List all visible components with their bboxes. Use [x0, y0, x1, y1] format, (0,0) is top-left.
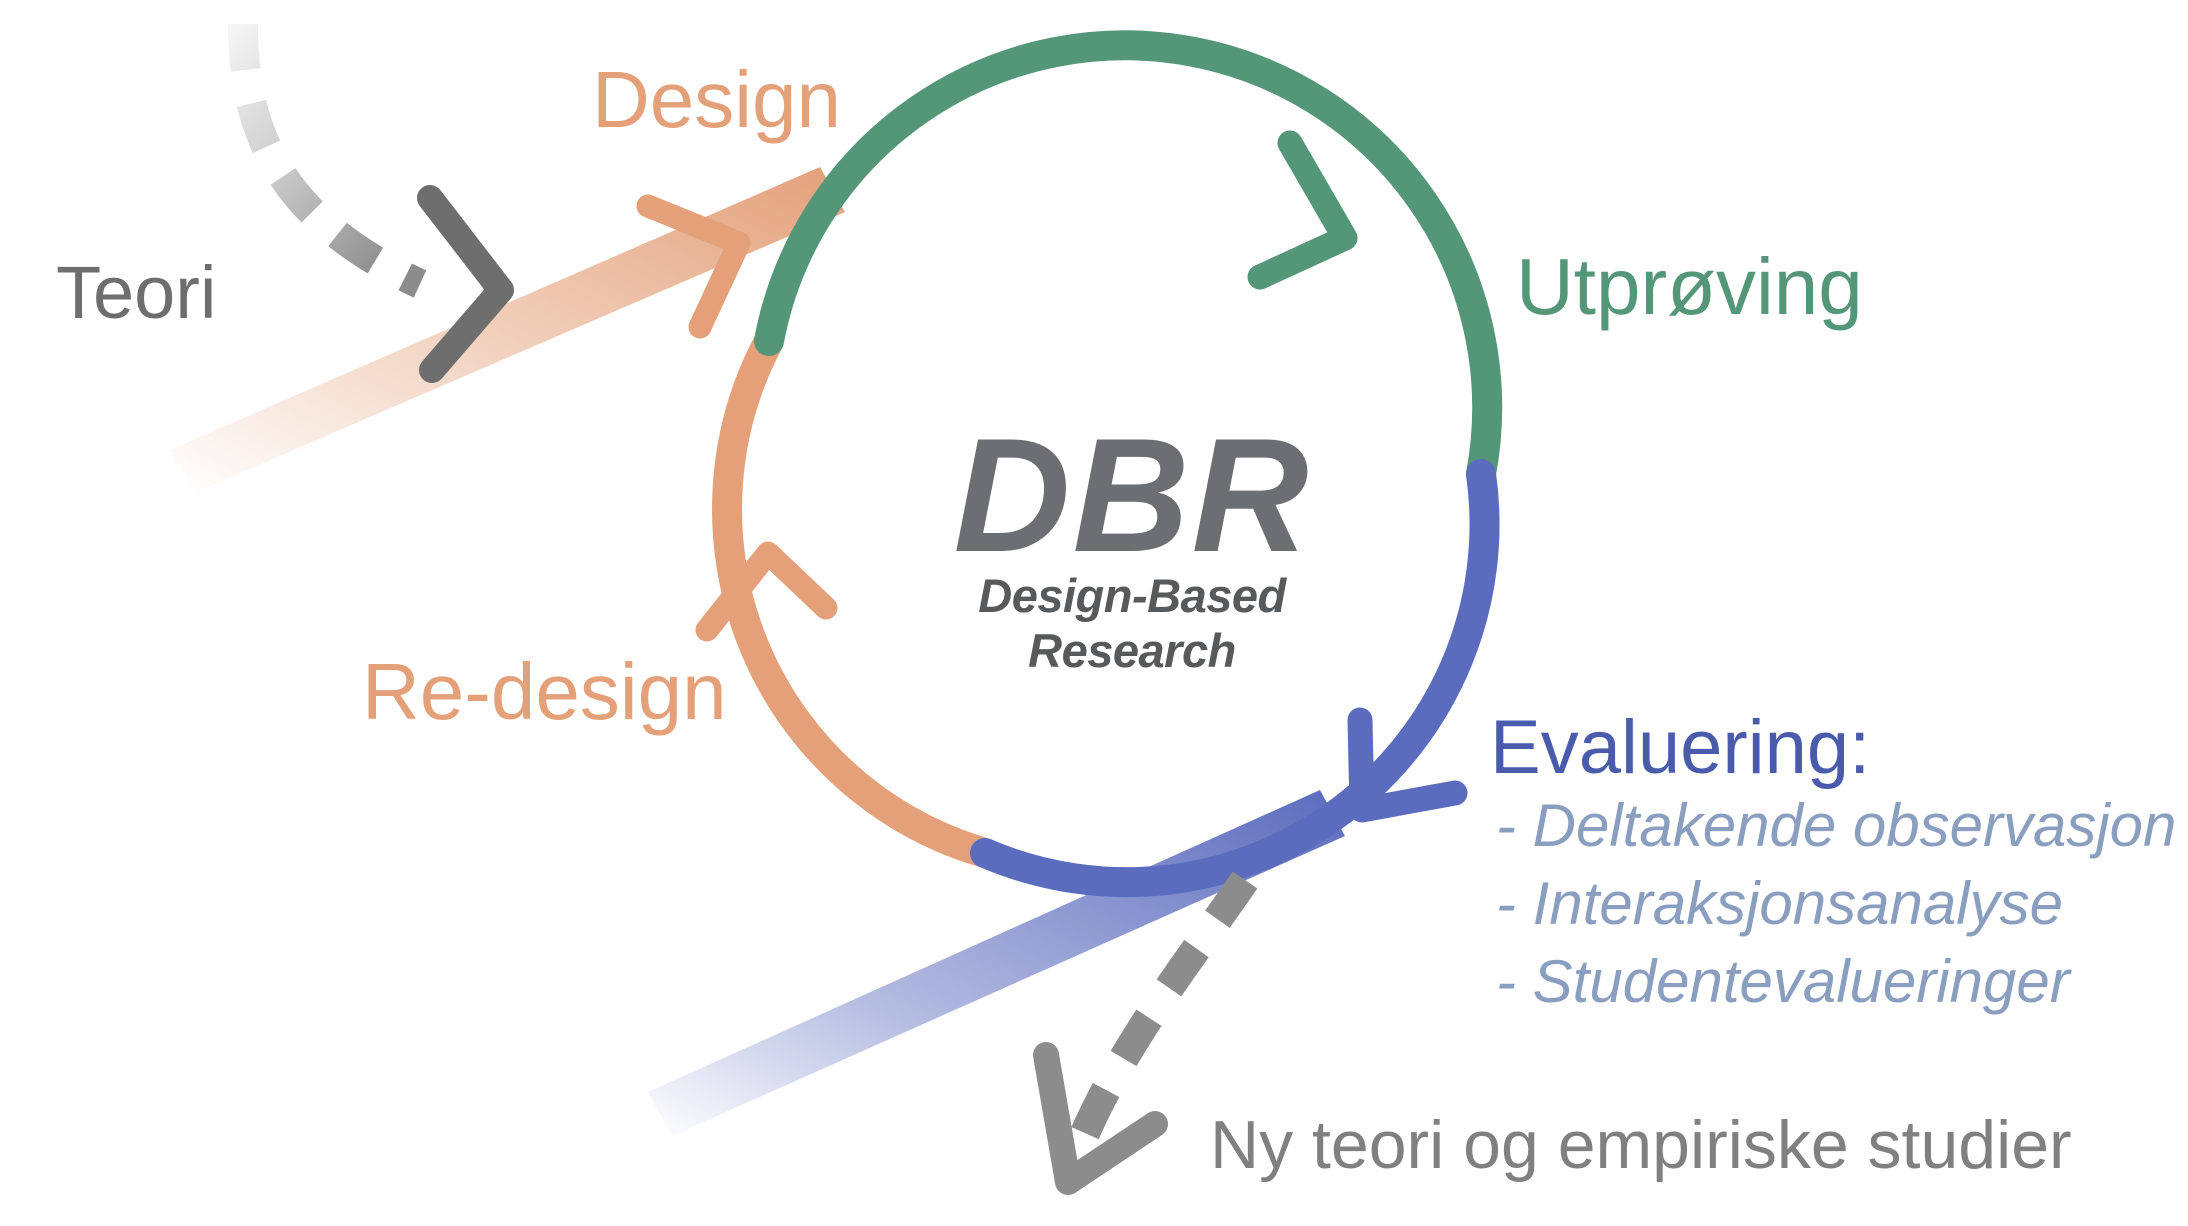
label-utproving: Utprøving — [1516, 245, 1863, 329]
dbr-cycle-diagram: Teori Design Re-design Utprøving Evaluer… — [0, 0, 2188, 1226]
dbr-center-logo: DBR Design-Based Research — [952, 418, 1312, 678]
theory-in-dashed-arrow — [243, 24, 501, 370]
evaluering-item-2: - Studentevalueringer — [1490, 943, 2176, 1021]
label-design: Design — [592, 58, 841, 142]
label-evaluering: Evaluering: — [1490, 709, 2176, 787]
evaluering-item-1: - Interaksjonsanalyse — [1490, 865, 2176, 943]
arc-design-redesign — [727, 341, 985, 853]
evaluering-item-0: - Deltakende observasjon — [1490, 787, 2176, 865]
label-teori: Teori — [56, 254, 216, 332]
dbr-expansion: Design-Based Research — [952, 568, 1312, 678]
utproving-arrowhead — [1260, 143, 1345, 277]
evaluering-group: Evaluering: - Deltakende observasjon - I… — [1490, 709, 2176, 1021]
dbr-acronym: DBR — [952, 418, 1312, 574]
label-ny-teori-og-empiriske-studier: Ny teori og empiriske studier — [1210, 1110, 2072, 1181]
label-re-design: Re-design — [362, 650, 727, 734]
